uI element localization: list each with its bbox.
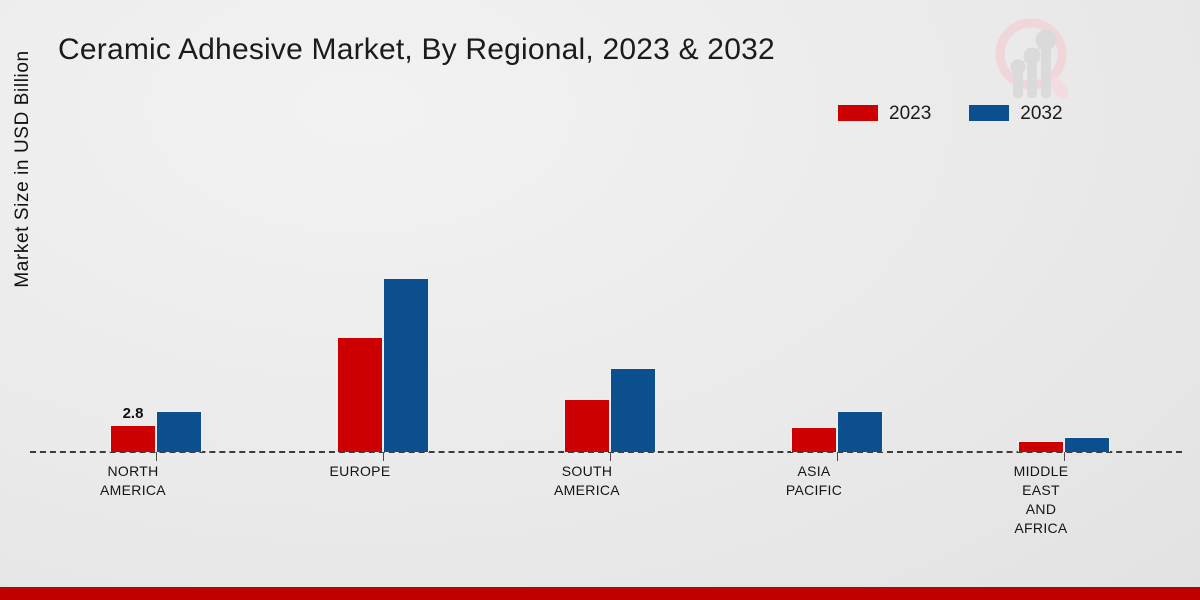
- x-label-line: EUROPE: [290, 462, 430, 481]
- x-label-line: SOUTH: [517, 462, 657, 481]
- bar-north-america-2023[interactable]: [110, 425, 156, 452]
- chart-figure: Ceramic Adhesive Market, By Regional, 20…: [0, 0, 1200, 600]
- bar-europe-2032[interactable]: [383, 278, 429, 452]
- x-label-line: EAST: [971, 481, 1111, 500]
- x-label-europe: EUROPE: [290, 462, 430, 481]
- bar-group-europe: EUROPE: [337, 0, 429, 600]
- x-label-south-america: SOUTH AMERICA: [517, 462, 657, 500]
- bar-group-north-america: 2.8 NORTH AMERICA: [110, 0, 202, 600]
- bar-south-america-2032[interactable]: [610, 368, 656, 452]
- bar-group-south-america: SOUTH AMERICA: [564, 0, 656, 600]
- x-tick-north-america: [156, 452, 157, 461]
- bar-asia-pacific-2032[interactable]: [837, 411, 883, 452]
- bar-group-asia-pacific: ASIA PACIFIC: [791, 0, 883, 600]
- x-label-line: NORTH: [63, 462, 203, 481]
- x-label-middle-east-and-africa: MIDDLE EAST AND AFRICA: [971, 462, 1111, 538]
- x-tick-asia-pacific: [837, 452, 838, 461]
- x-label-line: AMERICA: [517, 481, 657, 500]
- bar-group-middle-east-and-africa: MIDDLE EAST AND AFRICA: [1018, 0, 1110, 600]
- x-label-line: AFRICA: [971, 519, 1111, 538]
- x-tick-europe: [383, 452, 384, 461]
- x-label-line: ASIA: [744, 462, 884, 481]
- bar-north-america-2032[interactable]: [156, 411, 202, 452]
- bar-middle-east-and-africa-2032[interactable]: [1064, 437, 1110, 452]
- bar-europe-2023[interactable]: [337, 337, 383, 452]
- bar-asia-pacific-2023[interactable]: [791, 427, 837, 452]
- x-tick-middle-east-and-africa: [1064, 452, 1065, 461]
- bar-south-america-2023[interactable]: [564, 399, 610, 452]
- bar-value-north-america-2023: 2.8: [110, 405, 156, 422]
- x-label-north-america: NORTH AMERICA: [63, 462, 203, 500]
- bar-middle-east-and-africa-2023[interactable]: [1018, 441, 1064, 452]
- x-label-line: MIDDLE: [971, 462, 1111, 481]
- plot-area: 2.8 NORTH AMERICA EUROPE: [0, 0, 1200, 600]
- x-label-line: AND: [971, 500, 1111, 519]
- x-tick-south-america: [610, 452, 611, 461]
- footer-accent-bar: [0, 587, 1200, 600]
- x-label-line: PACIFIC: [744, 481, 884, 500]
- x-label-asia-pacific: ASIA PACIFIC: [744, 462, 884, 500]
- x-label-line: AMERICA: [63, 481, 203, 500]
